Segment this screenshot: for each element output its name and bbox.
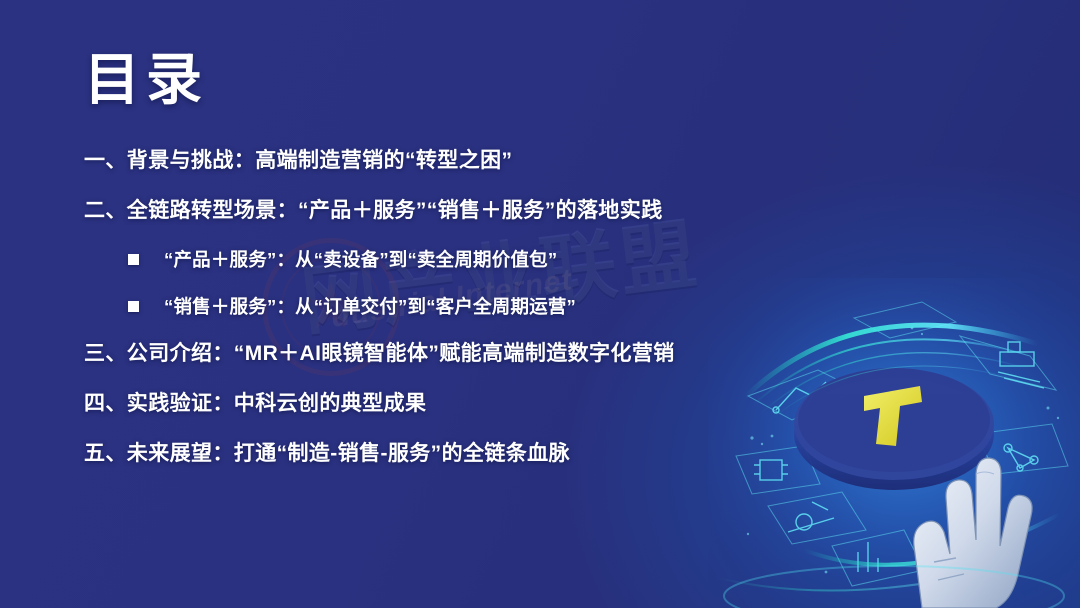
toc-subitem-1[interactable]: “产品＋服务”：从“卖设备”到“卖全周期价值包”: [128, 250, 784, 269]
robotic-hand-holographic-interface: [708, 278, 1080, 608]
toc-subitem-2[interactable]: “销售＋服务”：从“订单交付”到“客户全周期运营”: [128, 297, 784, 316]
artwork-svg: [708, 278, 1080, 608]
toc-item-3[interactable]: 三、公司介绍：“MR＋AI眼镜智能体”赋能高端制造数字化营销: [84, 343, 784, 365]
slide-root: 网产业联盟 dustrial Internet 目录 一、背景与挑战：高端制造营…: [0, 0, 1080, 608]
toc-item-2[interactable]: 二、全链路转型场景：“产品＋服务”“销售＋服务”的落地实践: [84, 200, 784, 222]
square-bullet-icon: [128, 254, 139, 265]
toc-item-4[interactable]: 四、实践验证：中科云创的典型成果: [84, 393, 784, 415]
toc-subitem-1-label: “产品＋服务”：从“卖设备”到“卖全周期价值包”: [164, 250, 557, 269]
toc-subitem-2-label: “销售＋服务”：从“订单交付”到“客户全周期运营”: [164, 297, 576, 316]
toc-item-1[interactable]: 一、背景与挑战：高端制造营销的“转型之困”: [84, 150, 784, 172]
toc-item-5[interactable]: 五、未来展望：打通“制造-销售-服务”的全链条血脉: [84, 443, 784, 465]
page-title: 目录: [84, 52, 208, 108]
table-of-contents: 一、背景与挑战：高端制造营销的“转型之困” 二、全链路转型场景：“产品＋服务”“…: [84, 150, 784, 493]
square-bullet-icon: [128, 301, 139, 312]
